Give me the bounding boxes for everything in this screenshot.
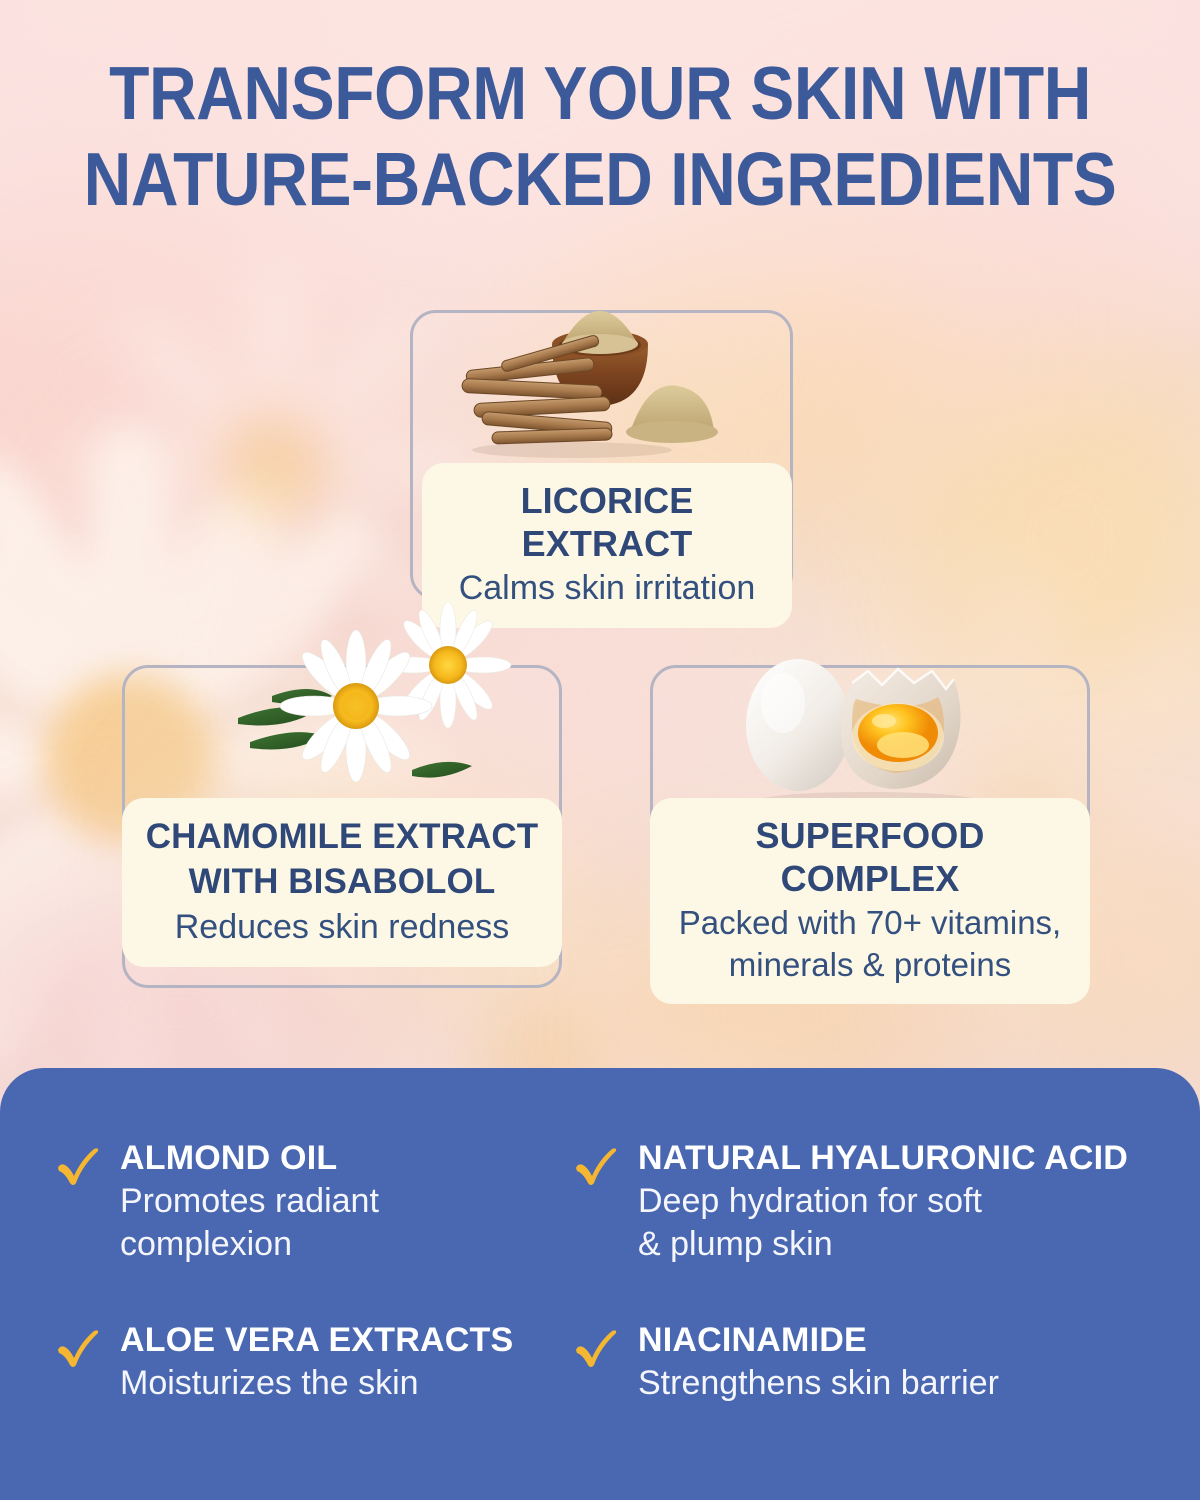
benefit-title: NIACINAMIDE	[638, 1320, 1172, 1360]
benefit-description: Deep hydration for soft & plump skin	[638, 1180, 1172, 1266]
ingredient-title: SUPERFOOD COMPLEX	[664, 814, 1076, 900]
ingredient-description: Calms skin irritation	[436, 567, 778, 610]
check-icon	[54, 1324, 102, 1372]
benefit-item-almond-oil: ALMOND OIL Promotes radiant complexion	[54, 1138, 524, 1266]
benefit-text: ALOE VERA EXTRACTS Moisturizes the skin	[120, 1320, 544, 1405]
benefit-item-aloe-vera: ALOE VERA EXTRACTS Moisturizes the skin	[54, 1320, 544, 1405]
benefit-description: Promotes radiant complexion	[120, 1180, 524, 1266]
check-icon	[572, 1324, 620, 1372]
ingredient-description: Packed with 70+ vitamins, minerals & pro…	[664, 902, 1076, 986]
benefit-text: NATURAL HYALURONIC ACID Deep hydration f…	[638, 1138, 1172, 1266]
benefit-item-hyaluronic-acid: NATURAL HYALURONIC ACID Deep hydration f…	[572, 1138, 1172, 1266]
ingredient-label-licorice: LICORICE EXTRACT Calms skin irritation	[422, 463, 792, 628]
benefit-description: Moisturizes the skin	[120, 1362, 544, 1405]
page-title: TRANSFORM YOUR SKIN WITH NATURE-BACKED I…	[72, 50, 1128, 222]
benefit-title: ALOE VERA EXTRACTS	[120, 1320, 544, 1360]
benefit-description: Strengthens skin barrier	[638, 1362, 1172, 1405]
check-icon	[572, 1142, 620, 1190]
benefit-title: NATURAL HYALURONIC ACID	[638, 1138, 1172, 1178]
ingredient-label-chamomile: CHAMOMILE EXTRACT WITH BISABOLOL Reduces…	[122, 798, 562, 967]
benefit-item-niacinamide: NIACINAMIDE Strengthens skin barrier	[572, 1320, 1172, 1405]
benefits-grid: ALMOND OIL Promotes radiant complexion N…	[0, 1068, 1200, 1500]
benefit-text: ALMOND OIL Promotes radiant complexion	[120, 1138, 524, 1266]
benefits-panel: ALMOND OIL Promotes radiant complexion N…	[0, 1068, 1200, 1500]
check-icon	[54, 1142, 102, 1190]
ingredient-description: Reduces skin redness	[136, 906, 548, 949]
ingredient-label-superfood: SUPERFOOD COMPLEX Packed with 70+ vitami…	[650, 798, 1090, 1004]
benefit-title: ALMOND OIL	[120, 1138, 524, 1178]
ingredient-title: CHAMOMILE EXTRACT WITH BISABOLOL	[136, 814, 548, 904]
benefit-text: NIACINAMIDE Strengthens skin barrier	[638, 1320, 1172, 1405]
ingredients-infographic: TRANSFORM YOUR SKIN WITH NATURE-BACKED I…	[0, 0, 1200, 1500]
ingredient-title: LICORICE EXTRACT	[436, 479, 778, 565]
